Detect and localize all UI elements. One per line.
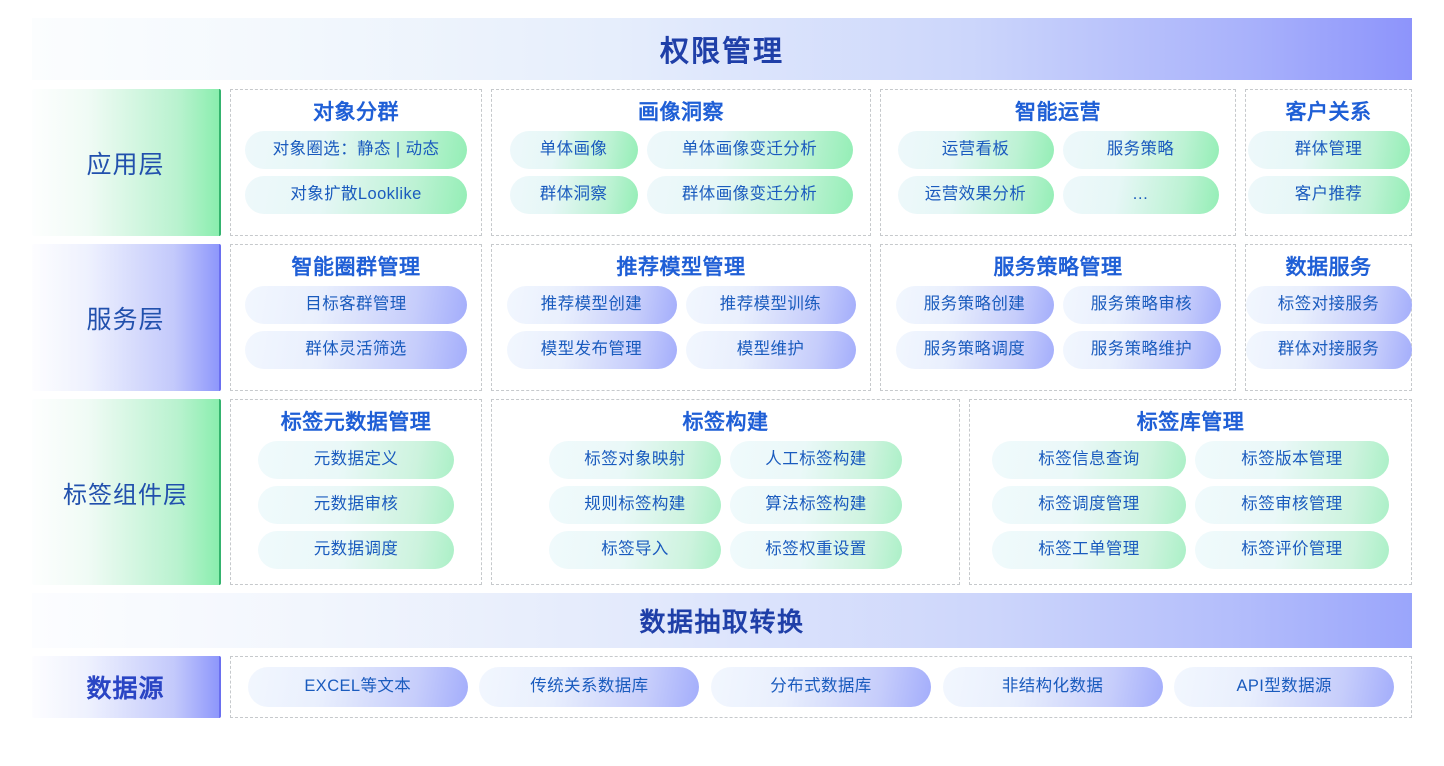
architecture-diagram: 权限管理 应用层 对象分群 对象圈选：静态 | 动态 对象扩散Looklike … <box>0 0 1444 766</box>
pill-item[interactable]: 算法标签构建 <box>730 486 902 524</box>
pill-item[interactable]: 推荐模型训练 <box>686 286 856 324</box>
pill-item[interactable]: 对象圈选：静态 | 动态 <box>245 131 467 169</box>
layer-groups-datasource: EXCEL等文本 传统关系数据库 分布式数据库 非结构化数据 API型数据源 <box>230 656 1412 718</box>
pill-list: 对象圈选：静态 | 动态 对象扩散Looklike <box>242 131 470 214</box>
layer-row-tag-component: 标签组件层 标签元数据管理 元数据定义 元数据审核 元数据调度 标签构建 标签对… <box>32 399 1412 585</box>
pill-item[interactable]: 标签审核管理 <box>1195 486 1389 524</box>
pill-item[interactable]: 服务策略审核 <box>1063 286 1221 324</box>
pill-item[interactable]: 标签调度管理 <box>992 486 1186 524</box>
group-data-service: 数据服务 标签对接服务 群体对接服务 <box>1245 244 1412 391</box>
pill-item[interactable]: 模型维护 <box>686 331 856 369</box>
group-title: 服务策略管理 <box>994 251 1123 281</box>
group-customer-relationship: 客户关系 群体管理 客户推荐 <box>1245 89 1412 236</box>
group-title: 标签元数据管理 <box>281 406 432 436</box>
pill-list: 标签信息查询 标签版本管理 标签调度管理 标签审核管理 标签工单管理 标签评价管… <box>981 441 1400 569</box>
pill-list: 群体管理 客户推荐 <box>1257 131 1400 214</box>
pill-item[interactable]: 服务策略 <box>1063 131 1219 169</box>
pill-item[interactable]: 单体画像变迁分析 <box>647 131 853 169</box>
group-tag-library-management: 标签库管理 标签信息查询 标签版本管理 标签调度管理 标签审核管理 标签工单管理… <box>969 399 1412 585</box>
group-title: 推荐模型管理 <box>617 251 746 281</box>
pill-item[interactable]: 群体对接服务 <box>1246 331 1412 369</box>
pill-item[interactable]: 分布式数据库 <box>711 667 931 707</box>
group-service-strategy-management: 服务策略管理 服务策略创建 服务策略审核 服务策略调度 服务策略维护 <box>880 244 1236 391</box>
data-extraction-transform-band: 数据抽取转换 <box>32 593 1412 648</box>
pill-item[interactable]: 运营效果分析 <box>898 176 1054 214</box>
pill-item[interactable]: 传统关系数据库 <box>479 667 699 707</box>
pill-item[interactable]: 群体洞察 <box>510 176 638 214</box>
layer-label-tag-component: 标签组件层 <box>32 399 221 585</box>
pill-item[interactable]: 标签评价管理 <box>1195 531 1389 569</box>
layer-row-service: 服务层 智能圈群管理 目标客群管理 群体灵活筛选 推荐模型管理 推荐模型创建 推… <box>32 244 1412 391</box>
pill-list: 单体画像 单体画像变迁分析 群体洞察 群体画像变迁分析 <box>503 131 859 214</box>
pill-item[interactable]: 标签工单管理 <box>992 531 1186 569</box>
layer-groups-service: 智能圈群管理 目标客群管理 群体灵活筛选 推荐模型管理 推荐模型创建 推荐模型训… <box>230 244 1412 391</box>
pill-item[interactable]: 标签信息查询 <box>992 441 1186 479</box>
pill-list: 目标客群管理 群体灵活筛选 <box>242 286 470 369</box>
group-title: 智能运营 <box>1015 96 1101 126</box>
pill-item[interactable]: 推荐模型创建 <box>507 286 677 324</box>
pill-list: 服务策略创建 服务策略审核 服务策略调度 服务策略维护 <box>892 286 1224 369</box>
group-tag-construction: 标签构建 标签对象映射 人工标签构建 规则标签构建 算法标签构建 标签导入 标签… <box>491 399 960 585</box>
pill-list: 推荐模型创建 推荐模型训练 模型发布管理 模型维护 <box>503 286 859 369</box>
group-tag-metadata-management: 标签元数据管理 元数据定义 元数据审核 元数据调度 <box>230 399 482 585</box>
pill-item[interactable]: 标签对接服务 <box>1246 286 1412 324</box>
pill-item[interactable]: 模型发布管理 <box>507 331 677 369</box>
pill-item[interactable]: 对象扩散Looklike <box>245 176 467 214</box>
group-title: 对象分群 <box>313 96 399 126</box>
pill-item[interactable]: 客户推荐 <box>1248 176 1410 214</box>
pill-item[interactable]: API型数据源 <box>1174 667 1394 707</box>
layer-label-datasource: 数据源 <box>32 656 221 718</box>
banner-title: 权限管理 <box>660 28 784 70</box>
group-title: 客户关系 <box>1286 96 1372 126</box>
permission-management-banner: 权限管理 <box>32 18 1412 80</box>
pill-list: 运营看板 服务策略 运营效果分析 … <box>892 131 1224 214</box>
layer-row-datasource: 数据源 EXCEL等文本 传统关系数据库 分布式数据库 非结构化数据 API型数… <box>32 656 1412 718</box>
layer-row-application: 应用层 对象分群 对象圈选：静态 | 动态 对象扩散Looklike 画像洞察 … <box>32 89 1412 236</box>
pill-item[interactable]: 标签导入 <box>549 531 721 569</box>
pill-item[interactable]: 服务策略调度 <box>896 331 1054 369</box>
group-smart-operation: 智能运营 运营看板 服务策略 运营效果分析 … <box>880 89 1236 236</box>
pill-item[interactable]: 目标客群管理 <box>245 286 467 324</box>
pill-item[interactable]: 群体灵活筛选 <box>245 331 467 369</box>
pill-list: 元数据定义 元数据审核 元数据调度 <box>242 441 470 569</box>
pill-item[interactable]: 规则标签构建 <box>549 486 721 524</box>
group-title: 标签库管理 <box>1137 406 1245 436</box>
pill-item[interactable]: 运营看板 <box>898 131 1054 169</box>
pill-item[interactable]: 标签权重设置 <box>730 531 902 569</box>
pill-list: EXCEL等文本 传统关系数据库 分布式数据库 非结构化数据 API型数据源 <box>242 667 1400 707</box>
pill-item[interactable]: 元数据定义 <box>258 441 454 479</box>
pill-list: 标签对象映射 人工标签构建 规则标签构建 算法标签构建 标签导入 标签权重设置 <box>503 441 948 569</box>
pill-item[interactable]: 元数据调度 <box>258 531 454 569</box>
pill-item[interactable]: 单体画像 <box>510 131 638 169</box>
pill-item[interactable]: 人工标签构建 <box>730 441 902 479</box>
group-recommendation-model-management: 推荐模型管理 推荐模型创建 推荐模型训练 模型发布管理 模型维护 <box>491 244 871 391</box>
group-smart-cohort-management: 智能圈群管理 目标客群管理 群体灵活筛选 <box>230 244 482 391</box>
layer-groups-tag-component: 标签元数据管理 元数据定义 元数据审核 元数据调度 标签构建 标签对象映射 人工… <box>230 399 1412 585</box>
pill-item[interactable]: 元数据审核 <box>258 486 454 524</box>
pill-item-more[interactable]: … <box>1063 176 1219 214</box>
group-title: 数据服务 <box>1286 251 1372 281</box>
layer-label-service: 服务层 <box>32 244 221 391</box>
group-title: 标签构建 <box>683 406 769 436</box>
pill-item[interactable]: 非结构化数据 <box>943 667 1163 707</box>
pill-item[interactable]: 标签版本管理 <box>1195 441 1389 479</box>
group-title: 智能圈群管理 <box>292 251 421 281</box>
pill-item[interactable]: 服务策略维护 <box>1063 331 1221 369</box>
etl-title: 数据抽取转换 <box>639 602 804 639</box>
pill-item[interactable]: EXCEL等文本 <box>248 667 468 707</box>
pill-list: 标签对接服务 群体对接服务 <box>1257 286 1400 369</box>
pill-item[interactable]: 标签对象映射 <box>549 441 721 479</box>
pill-item[interactable]: 群体管理 <box>1248 131 1410 169</box>
layer-groups-application: 对象分群 对象圈选：静态 | 动态 对象扩散Looklike 画像洞察 单体画像… <box>230 89 1412 236</box>
group-datasource-types: EXCEL等文本 传统关系数据库 分布式数据库 非结构化数据 API型数据源 <box>230 656 1412 718</box>
group-title: 画像洞察 <box>638 96 724 126</box>
group-object-segmentation: 对象分群 对象圈选：静态 | 动态 对象扩散Looklike <box>230 89 482 236</box>
pill-item[interactable]: 服务策略创建 <box>896 286 1054 324</box>
group-portrait-insight: 画像洞察 单体画像 单体画像变迁分析 群体洞察 群体画像变迁分析 <box>491 89 871 236</box>
layer-label-application: 应用层 <box>32 89 221 236</box>
pill-item[interactable]: 群体画像变迁分析 <box>647 176 853 214</box>
